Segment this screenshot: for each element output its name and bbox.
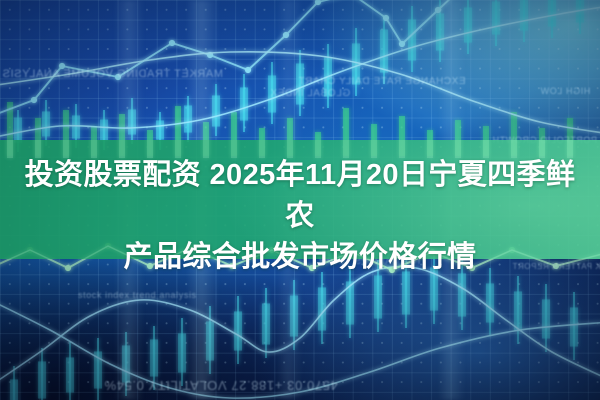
- page-title-line-2: 产品综合批发市场价格行情: [124, 241, 477, 273]
- banner-image: MARKET TRADING VOLUME ANALYSISGLOBAL IND…: [0, 0, 600, 400]
- ghost-label: GLOBAL INDEX: [270, 88, 350, 99]
- ghost-label: MARKET TRADING VOLUME ANALYSIS: [2, 68, 223, 80]
- ghost-label: EXCHANGE RATE DAILY CHART: [298, 76, 466, 87]
- headline-container: 投资股票配资 2025年11月20日宁夏四季鲜农 产品综合批发市场价格行情: [0, 155, 600, 278]
- page-title-line-1: 投资股票配资 2025年11月20日宁夏四季鲜农: [25, 159, 576, 232]
- page-title: 投资股票配资 2025年11月20日宁夏四季鲜农 产品综合批发市场价格行情: [18, 155, 582, 278]
- ghost-label: HIGH LOW: [540, 86, 590, 96]
- ghost-label: 4570.03 +188.27 VOLATILITY 0.54%: [104, 378, 338, 393]
- ghost-label: stock index trend analysis: [78, 290, 197, 300]
